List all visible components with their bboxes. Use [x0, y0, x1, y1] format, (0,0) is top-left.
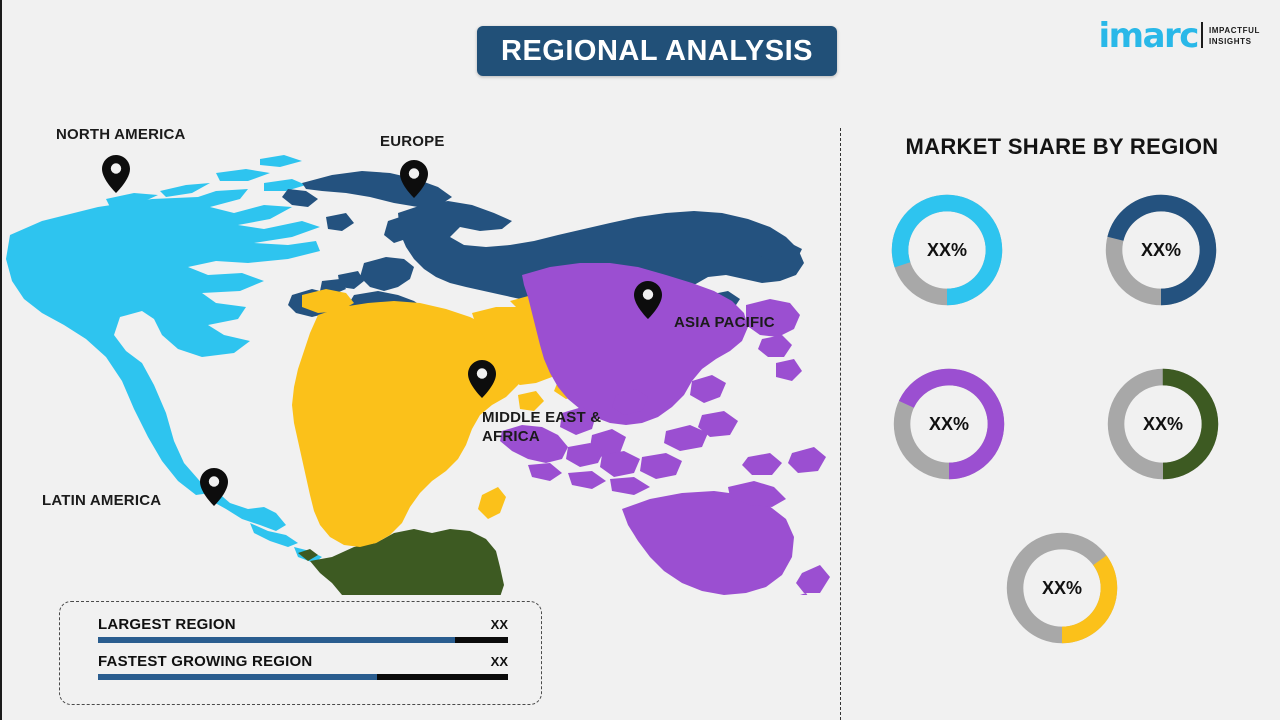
- page-title: REGIONAL ANALYSIS: [501, 35, 813, 68]
- donut-label-middle-east-africa: XX%: [1000, 526, 1124, 650]
- legend-bar-fill-largest-region: [98, 637, 455, 643]
- donut-label-latin-america: XX%: [1101, 362, 1225, 486]
- map-region-latin-america: [298, 529, 504, 595]
- donut-label-north-america: XX%: [885, 188, 1009, 312]
- map-label-middle-east-africa: MIDDLE EAST & AFRICA: [482, 409, 601, 447]
- region-summary-card: LARGEST REGION XX FASTEST GROWING REGION…: [59, 601, 542, 705]
- legend-row-largest-region: LARGEST REGION XX: [98, 616, 508, 643]
- legend-bar-fill-fastest-growing-region: [98, 674, 377, 680]
- donut-chart-north-america: XX%: [885, 188, 1009, 312]
- legend-bar-fastest-growing-region: [98, 674, 508, 680]
- legend-bar-largest-region: [98, 637, 508, 643]
- legend-row-fastest-growing-region: FASTEST GROWING REGION XX: [98, 653, 508, 680]
- logo-divider: [1201, 22, 1203, 48]
- vertical-dashed-divider: [840, 128, 841, 720]
- legend-value-fastest-growing-region: XX: [491, 654, 508, 669]
- map-label-asia-pacific: ASIA PACIFIC: [674, 314, 775, 333]
- map-label-north-america: NORTH AMERICA: [56, 126, 186, 145]
- legend-value-largest-region: XX: [491, 617, 508, 632]
- imarc-logo: imarc IMPACTFUL INSIGHTS: [1099, 22, 1260, 51]
- donut-chart-europe: XX%: [1099, 188, 1223, 312]
- map-label-latin-america: LATIN AMERICA: [42, 492, 161, 511]
- legend-label-largest-region: LARGEST REGION: [98, 616, 236, 633]
- map-pin-north-america[interactable]: [102, 155, 130, 193]
- map-label-europe: EUROPE: [380, 133, 445, 152]
- logo-tagline-line2: INSIGHTS: [1209, 37, 1260, 48]
- logo-wordmark: imarc: [1099, 22, 1198, 51]
- map-pin-middle-east-africa[interactable]: [468, 360, 496, 398]
- map-pin-latin-america[interactable]: [200, 468, 228, 506]
- donut-label-europe: XX%: [1099, 188, 1223, 312]
- legend-label-fastest-growing-region: FASTEST GROWING REGION: [98, 653, 312, 670]
- map-pin-asia-pacific[interactable]: [634, 281, 662, 319]
- donut-chart-asia-pacific: XX%: [887, 362, 1011, 486]
- donut-chart-middle-east-africa: XX%: [1000, 526, 1124, 650]
- panel-title-market-share: MARKET SHARE BY REGION: [882, 134, 1242, 160]
- map-pin-europe[interactable]: [400, 160, 428, 198]
- donut-label-asia-pacific: XX%: [887, 362, 1011, 486]
- logo-tagline-line1: IMPACTFUL: [1209, 26, 1260, 37]
- donut-chart-latin-america: XX%: [1101, 362, 1225, 486]
- logo-tagline: IMPACTFUL INSIGHTS: [1209, 26, 1260, 48]
- page-title-banner: REGIONAL ANALYSIS: [477, 26, 837, 76]
